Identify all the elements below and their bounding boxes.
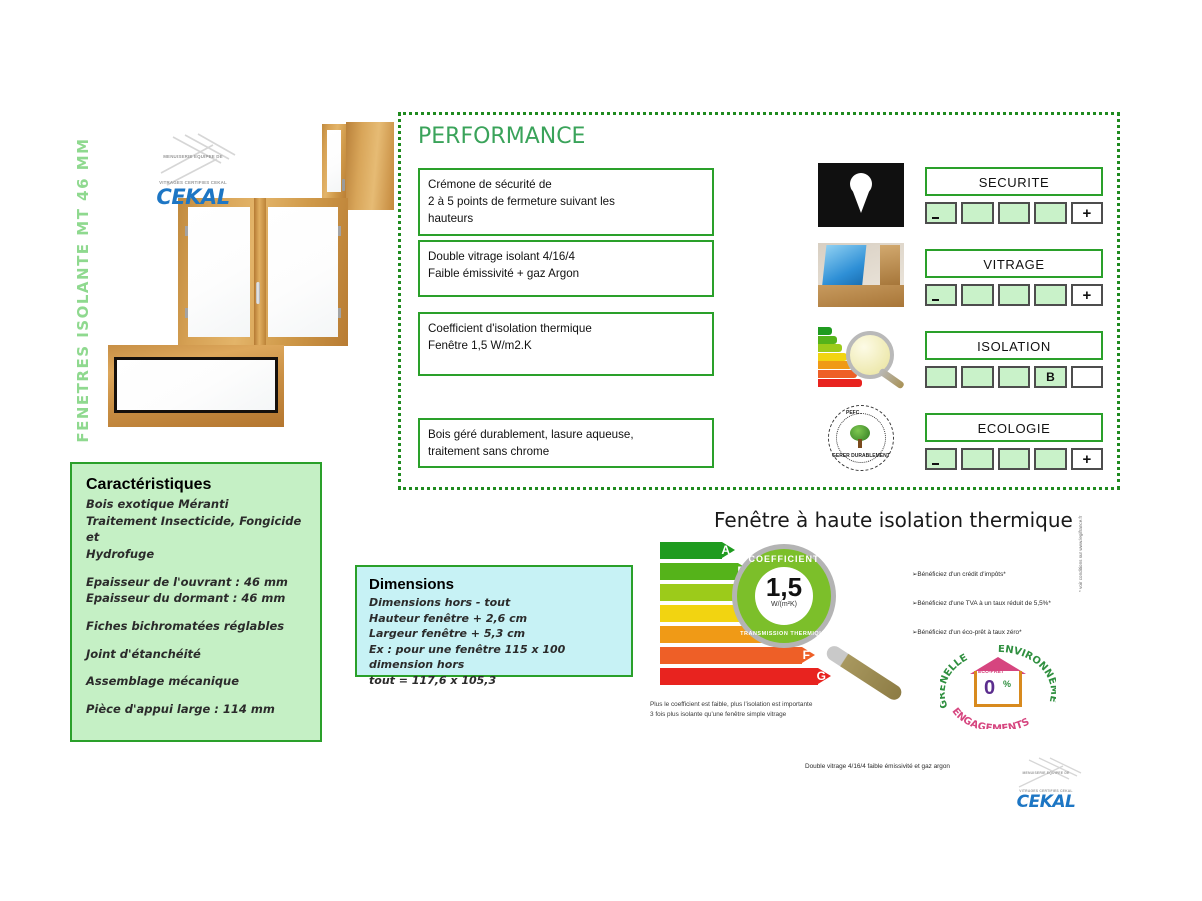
glazing-wood-sill [818, 285, 904, 307]
grenelle-environnement-logo: GRENELLE ENVIRONNEMENT ENGAGEMENTS ÉCO-P… [940, 645, 1056, 729]
window-handle [256, 282, 260, 304]
rating-cell[interactable] [961, 202, 993, 224]
rating-cell[interactable] [998, 202, 1030, 224]
grenelle-badge-percent: % [1003, 679, 1011, 689]
rating-cell[interactable]: + [1071, 284, 1103, 306]
energy-magnifier-icon [818, 325, 904, 389]
caracteristiques-line: Epaisseur du dormant : 46 mm [86, 590, 306, 607]
spacer [86, 563, 306, 574]
energy-grade-bar: B [660, 563, 738, 580]
rating-cell[interactable] [925, 448, 957, 470]
coefficient-magnifier: COEFFICIENT TRANSMISSION THERMIQUE 1,5 W… [732, 544, 836, 648]
window-mullion [254, 198, 266, 346]
rating-label: SECURITE [925, 167, 1103, 196]
caracteristiques-box: Caractéristiques Bois exotique MérantiTr… [70, 462, 322, 742]
grenelle-house-icon [974, 671, 1022, 707]
benefit-item: ➢Bénéficiez d'un crédit d'impôts* [912, 570, 1092, 578]
eco-stamp-bottom-text: GERER DURABLEMENT [832, 453, 890, 459]
window-hinge [185, 226, 188, 236]
dimensions-list: Dimensions hors - toutHauteur fenêtre + … [369, 595, 619, 689]
rating-row-vitrage: VITRAGE+ [925, 249, 1103, 306]
energy-grade-letter: F [803, 647, 810, 664]
magnifier-handle-icon [878, 368, 905, 390]
window-hinge [185, 308, 188, 318]
rating-cell[interactable]: + [1071, 448, 1103, 470]
performance-feature-box: Crémone de sécurité de2 à 5 points de fe… [418, 168, 714, 236]
caracteristiques-line: Epaisseur de l'ouvrant : 46 mm [86, 574, 306, 591]
caracteristiques-line: Hydrofuge [86, 546, 306, 563]
coefficient-ring-bottom: TRANSMISSION THERMIQUE [737, 631, 831, 637]
performance-title: PERFORMANCE [418, 124, 585, 149]
window-glass [327, 130, 341, 192]
caracteristiques-line: Fiches bichromatées réglables [86, 618, 306, 635]
cekal-wordmark: CEKAL [1005, 794, 1087, 811]
rating-cell[interactable] [998, 366, 1030, 388]
energy-label-graphic: ABCDEFG COEFFICIENT TRANSMISSION THERMIQ… [660, 538, 896, 698]
coefficient-inner: 1,5 W/(m²K) [755, 567, 813, 625]
cekal-sub-line1: MENUISERIE EQUIPEE DE [143, 133, 243, 159]
cekal-sub-line1: MENUISERIE EQUIPEE DE [1005, 757, 1087, 775]
rating-cell[interactable] [961, 366, 993, 388]
rating-cell[interactable] [925, 284, 957, 306]
rating-cell[interactable] [1034, 284, 1066, 306]
benefit-item: ➢Bénéficiez d'une TVA à un taux réduit d… [912, 599, 1092, 607]
plus-icon: + [1082, 206, 1091, 221]
eco-stamp-icon: PEFCGERER DURABLEMENT [818, 405, 904, 469]
energy-bar [818, 336, 837, 344]
rating-cell[interactable] [998, 448, 1030, 470]
energy-caption-line: 3 fois plus isolante qu'une fenêtre simp… [650, 710, 900, 720]
rating-label: VITRAGE [925, 249, 1103, 278]
cekal-logo-footer: MENUISERIE EQUIPEE DE VITRAGES CERTIFIES… [1005, 757, 1087, 803]
datasheet-page: FENETRES ISOLANTE MT 46 MM MENUISERIE EQ… [0, 0, 1202, 901]
eco-stamp-top-text: PEFC [846, 410, 859, 416]
dimensions-line: tout = 117,6 x 105,3 [369, 673, 619, 689]
dimensions-box: Dimensions Dimensions hors - toutHauteur… [355, 565, 633, 677]
energy-bar [818, 344, 842, 352]
transom-window-photo [108, 345, 284, 427]
rating-row-ecologie: ECOLOGIE+ [925, 413, 1103, 470]
spacer [86, 635, 306, 646]
energy-grade-bar: F [660, 647, 802, 664]
dimensions-line: Largeur fenêtre + 5,3 cm [369, 626, 619, 642]
rating-cell[interactable] [925, 202, 957, 224]
vertical-product-title-text: FENETRES ISOLANTE MT 46 MM [74, 137, 92, 442]
rating-row-securite: SECURITE+ [925, 167, 1103, 224]
caracteristiques-line: Joint d'étanchéité [86, 646, 306, 663]
performance-feature-line: Bois géré durablement, lasure aqueuse, [428, 427, 704, 444]
rating-cell[interactable] [1034, 448, 1066, 470]
caracteristiques-list: Bois exotique MérantiTraitement Insectic… [86, 496, 306, 718]
cekal-sub-line2: VITRAGES CERTIFIES CEKAL [143, 159, 243, 185]
caracteristiques-line: Pièce d'appui large : 114 mm [86, 701, 306, 718]
energy-bar [818, 370, 857, 378]
window-hinge [338, 308, 341, 318]
plus-icon: + [1082, 288, 1091, 303]
caracteristiques-line: Traitement Insecticide, Fongicide et [86, 513, 306, 546]
performance-feature-line: Coefficient d'isolation thermique [428, 321, 704, 338]
rating-cell[interactable] [998, 284, 1030, 306]
performance-feature-line: 2 à 5 points de fermeture suivant les [428, 194, 704, 211]
coefficient-unit: W/(m²K) [755, 601, 813, 608]
window-pane-right [268, 207, 338, 337]
dimensions-line: Hauteur fenêtre + 2,6 cm [369, 611, 619, 627]
grenelle-badge-label: ÉCO-PRÊT [978, 669, 1004, 675]
coefficient-ring-top: COEFFICIENT [737, 554, 831, 564]
performance-feature-line: hauteurs [428, 211, 704, 228]
rating-cells: + [925, 448, 1103, 470]
side-footnote: * voir conditions sur www.legifrance.fr [1078, 516, 1083, 592]
minus-icon [932, 217, 939, 219]
hero-title: Fenêtre à haute isolation thermique [714, 508, 1073, 532]
glazing-photo-icon [818, 243, 904, 307]
svg-text:ENGAGEMENTS: ENGAGEMENTS [949, 706, 1031, 729]
window-hinge [338, 226, 341, 236]
performance-feature-box: Coefficient d'isolation thermiqueFenêtre… [418, 312, 714, 376]
transom-glass [117, 360, 275, 410]
rating-cell[interactable] [961, 448, 993, 470]
vertical-product-title: FENETRES ISOLANTE MT 46 MM [68, 120, 98, 460]
performance-feature-line: Fenêtre 1,5 W/m2.K [428, 338, 704, 355]
dimensions-title: Dimensions [369, 576, 619, 593]
spacer [86, 662, 306, 673]
benefit-item: ➢Bénéficiez d'un éco-prêt à taux zéro* [912, 628, 1092, 636]
performance-feature-line: traitement sans chrome [428, 444, 704, 461]
double-casement-window-photo [178, 198, 348, 346]
caracteristiques-line: Bois exotique Méranti [86, 496, 306, 513]
magnifier-handle [824, 643, 904, 702]
rating-label: ECOLOGIE [925, 413, 1103, 442]
rating-label: ISOLATION [925, 331, 1103, 360]
rating-cell[interactable] [1071, 366, 1103, 388]
minus-icon [932, 463, 939, 465]
rating-cell[interactable] [961, 284, 993, 306]
window-pane-left [188, 207, 250, 337]
window-handle [342, 179, 345, 191]
performance-feature-line: Double vitrage isolant 4/16/4 [428, 249, 704, 266]
energy-bar [818, 327, 832, 335]
window-leaf-fixed [322, 124, 346, 204]
rating-cells: + [925, 284, 1103, 306]
cekal-logo: MENUISERIE EQUIPEE DE VITRAGES CERTIFIES… [143, 133, 243, 195]
energy-grade-bar: G [660, 668, 818, 685]
footer-note: Double vitrage 4/16/4 faible émissivité … [805, 763, 950, 770]
keyhole-stem [852, 189, 870, 213]
plus-icon: + [1082, 452, 1091, 467]
energy-grade-bar: A [660, 542, 722, 559]
keyhole-icon [818, 163, 904, 227]
rating-cell[interactable] [1034, 202, 1066, 224]
caracteristiques-line: Assemblage mécanique [86, 673, 306, 690]
rating-cells: + [925, 202, 1103, 224]
grenelle-badge-value: 0 [984, 677, 995, 700]
spacer [86, 690, 306, 701]
energy-bar [818, 353, 847, 361]
svg-text:GRENELLE: GRENELLE [940, 652, 970, 709]
window-leaf-open [346, 122, 394, 210]
performance-feature-line: Crémone de sécurité de [428, 177, 704, 194]
spacer [86, 607, 306, 618]
benefits-list: ➢Bénéficiez d'un crédit d'impôts*➢Bénéfi… [912, 570, 1092, 657]
cekal-wordmark: CEKAL [143, 187, 243, 208]
energy-bar [818, 379, 862, 387]
minus-icon [932, 299, 939, 301]
performance-feature-box: Double vitrage isolant 4/16/4Faible émis… [418, 240, 714, 297]
energy-grade-letter: G [817, 668, 826, 685]
energy-caption: Plus le coefficient est faible, plus l'i… [650, 700, 900, 721]
tree-trunk [858, 439, 862, 448]
dimensions-line: Ex : pour une fenêtre 115 x 100 dimensio… [369, 642, 619, 673]
rating-cell[interactable] [925, 366, 957, 388]
performance-feature-line: Faible émissivité + gaz Argon [428, 266, 704, 283]
rating-row-isolation: ISOLATIONB [925, 331, 1103, 388]
rating-cell[interactable]: + [1071, 202, 1103, 224]
rating-cells: B [925, 366, 1103, 388]
rating-cell[interactable]: B [1034, 366, 1066, 388]
performance-feature-box: Bois géré durablement, lasure aqueuse,tr… [418, 418, 714, 468]
dimensions-line: Dimensions hors - tout [369, 595, 619, 611]
caracteristiques-title: Caractéristiques [86, 476, 306, 494]
energy-caption-line: Plus le coefficient est faible, plus l'i… [650, 700, 900, 710]
energy-grade-letter: A [721, 542, 730, 559]
